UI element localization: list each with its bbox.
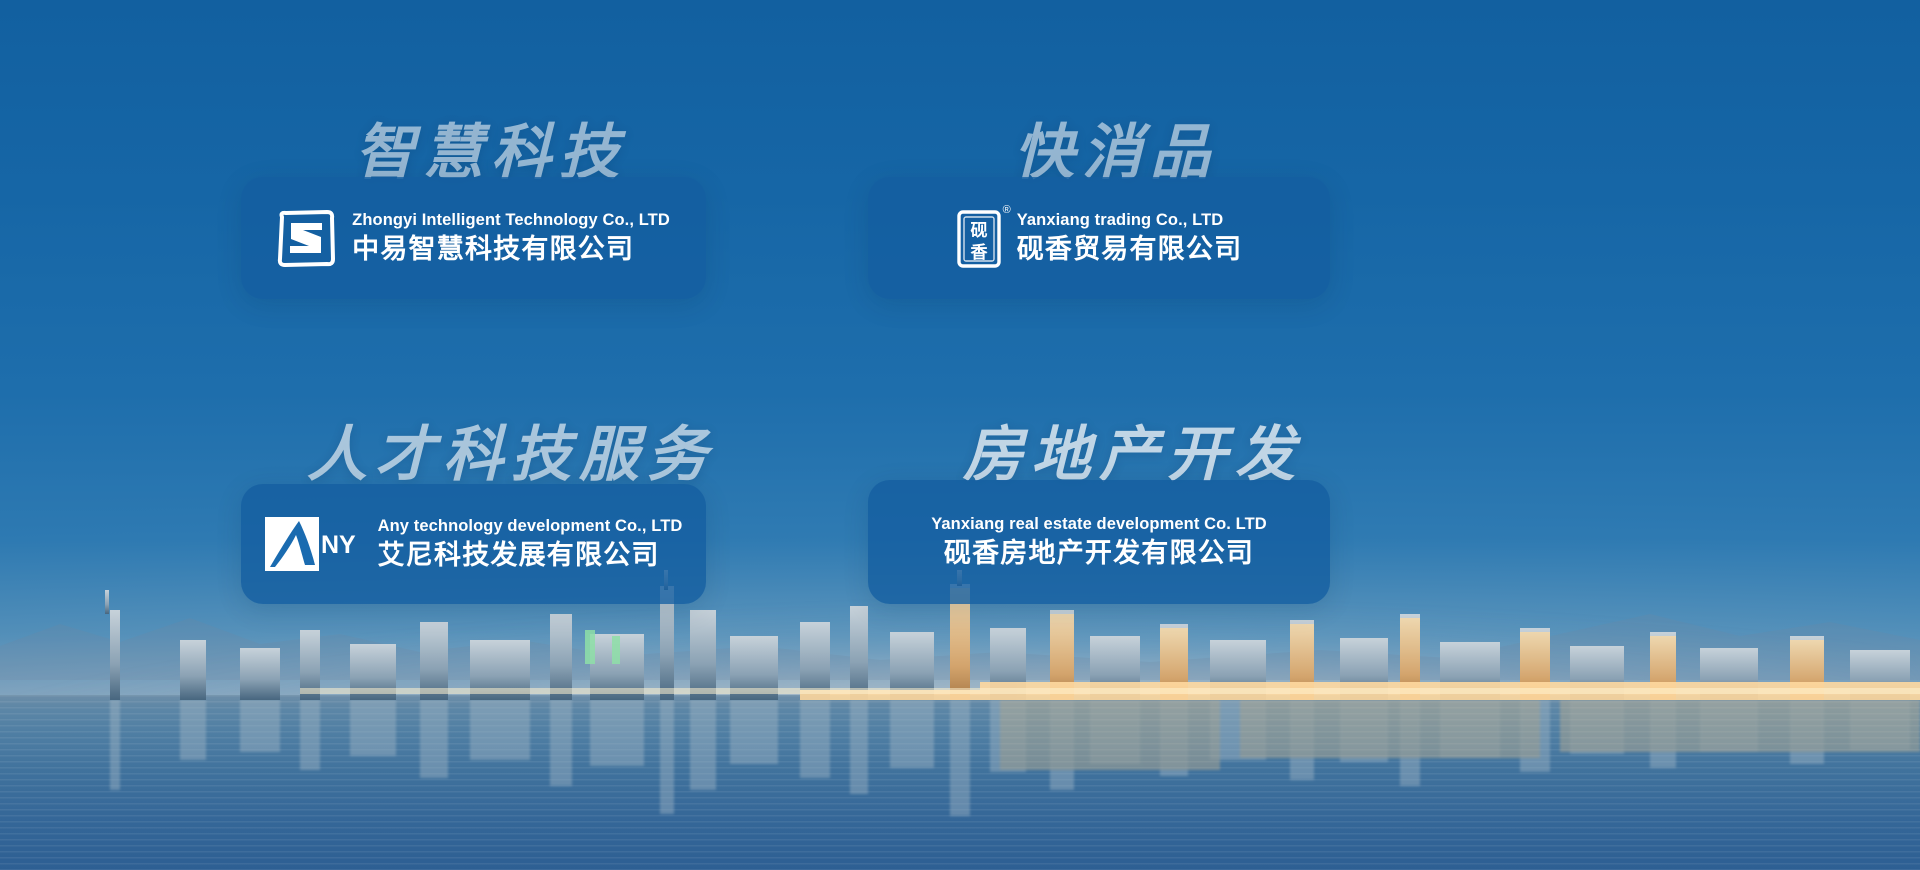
- company-name-en: Yanxiang trading Co., LTD: [1017, 210, 1243, 231]
- company-names: Yanxiang trading Co., LTD 砚香贸易有限公司: [1017, 210, 1243, 266]
- company-name-en: Zhongyi Intelligent Technology Co., LTD: [352, 210, 670, 231]
- company-card-yanxiang-real-estate[interactable]: Yanxiang real estate development Co. LTD…: [868, 480, 1330, 604]
- company-names: Yanxiang real estate development Co. LTD…: [931, 514, 1267, 570]
- any-ny-square-logo: NY: [265, 515, 361, 573]
- seal-char-bottom: 香: [970, 243, 987, 263]
- company-name-en: Any technology development Co., LTD: [378, 516, 683, 537]
- company-name-cn: 中易智慧科技有限公司: [352, 234, 670, 266]
- zhongyi-z-square-logo: [277, 209, 335, 267]
- company-card-yanxiang-trading[interactable]: 砚 香 ® Yanxiang trading Co., LTD 砚香贸易有限公司: [868, 177, 1330, 299]
- logo-text-ny: NY: [321, 531, 356, 559]
- company-card-zhongyi[interactable]: Zhongyi Intelligent Technology Co., LTD …: [241, 177, 706, 299]
- yanxiang-seal-logo: 砚 香 ®: [956, 209, 1000, 267]
- company-name-cn: 艾尼科技发展有限公司: [378, 540, 683, 572]
- company-name-cn: 砚香房地产开发有限公司: [944, 538, 1254, 570]
- seal-char-top: 砚: [970, 221, 987, 241]
- company-names: Any technology development Co., LTD 艾尼科技…: [378, 516, 683, 572]
- company-names: Zhongyi Intelligent Technology Co., LTD …: [352, 210, 670, 266]
- company-card-any-technology[interactable]: NY Any technology development Co., LTD 艾…: [241, 484, 706, 604]
- skyline-reflection: [0, 700, 1920, 830]
- company-name-cn: 砚香贸易有限公司: [1017, 234, 1243, 266]
- hero-banner: 智慧科技 快消品 人才科技服务 房地产开发 Zhongyi Intelligen…: [0, 0, 1920, 870]
- company-name-en: Yanxiang real estate development Co. LTD: [931, 514, 1267, 535]
- section-title-talent-services: 人才科技服务: [307, 406, 715, 493]
- registered-trademark-icon: ®: [1003, 205, 1011, 216]
